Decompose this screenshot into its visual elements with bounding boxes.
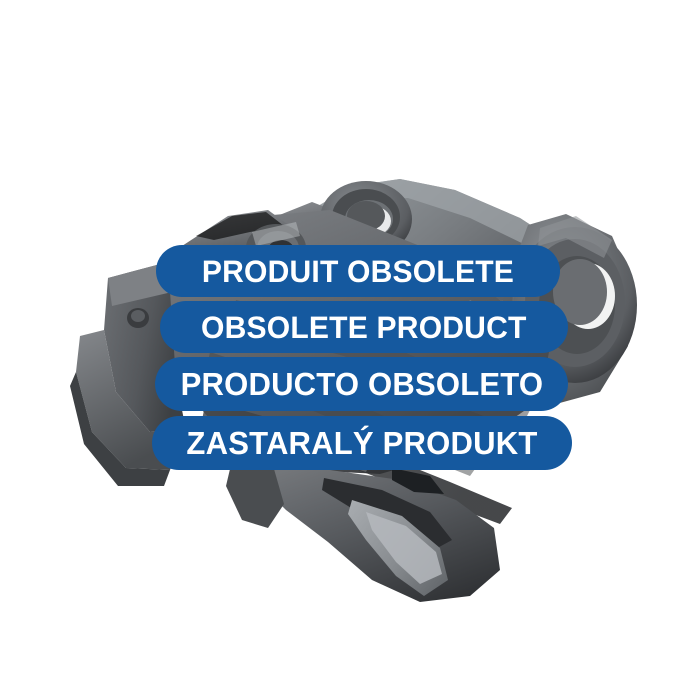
obsolete-banner-cs[interactable]: ZASTARALÝ PRODUKT xyxy=(152,416,572,470)
obsolete-banner-es[interactable]: PRODUCTO OBSOLETO xyxy=(155,357,568,411)
obsolete-banner-en-label: OBSOLETE PRODUCT xyxy=(201,312,527,343)
obsolete-banner-fr[interactable]: PRODUIT OBSOLETE xyxy=(156,245,560,297)
obsolete-banner-fr-label: PRODUIT OBSOLETE xyxy=(202,256,514,287)
obsolete-banner-en[interactable]: OBSOLETE PRODUCT xyxy=(160,301,568,353)
lower-jaw xyxy=(226,452,500,602)
obsolete-banner-es-label: PRODUCTO OBSOLETO xyxy=(180,368,543,400)
product-obsolete-graphic: PRODUIT OBSOLETE OBSOLETE PRODUCT PRODUC… xyxy=(0,0,700,700)
obsolete-banner-cs-label: ZASTARALÝ PRODUKT xyxy=(186,427,537,459)
